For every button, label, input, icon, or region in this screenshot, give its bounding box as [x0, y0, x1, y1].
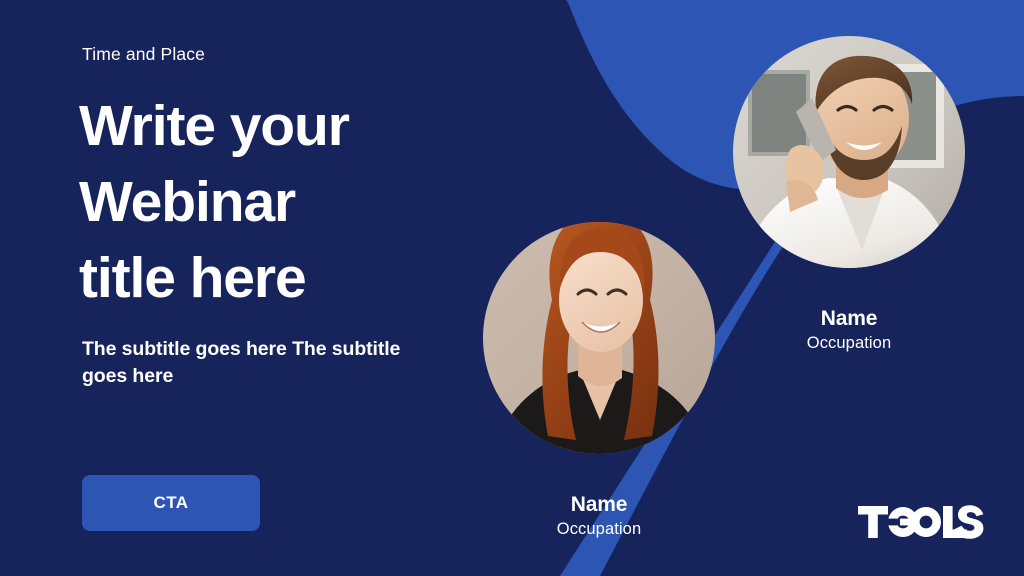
- webinar-title-slide: Time and Place Write your Webinar title …: [0, 0, 1024, 576]
- title-line-1: Write your: [79, 88, 349, 164]
- tools-logo: [858, 502, 984, 542]
- speaker-card-top: Name Occupation: [733, 36, 965, 355]
- title-line-2: Webinar: [79, 164, 349, 240]
- speaker-photo-top: [733, 36, 965, 268]
- title-line-3: title here: [79, 240, 349, 316]
- speaker-caption-top: Name Occupation: [733, 306, 965, 355]
- speaker-card-bottom: Name Occupation: [483, 222, 715, 541]
- eyebrow-time-and-place: Time and Place: [82, 44, 205, 65]
- slide-text-column: Time and Place Write your Webinar title …: [82, 0, 422, 576]
- subtitle: The subtitle goes here The subtitle goes…: [82, 336, 422, 390]
- speaker-occupation-bottom: Occupation: [483, 518, 715, 541]
- speaker-caption-bottom: Name Occupation: [483, 492, 715, 541]
- speaker-name-top: Name: [733, 306, 965, 331]
- interlocking-rings-icon: [885, 507, 941, 537]
- speaker-name-bottom: Name: [483, 492, 715, 517]
- page-title: Write your Webinar title here: [79, 88, 349, 316]
- cta-button[interactable]: CTA: [82, 475, 260, 531]
- speaker-occupation-top: Occupation: [733, 332, 965, 355]
- speaker-photo-bottom: [483, 222, 715, 454]
